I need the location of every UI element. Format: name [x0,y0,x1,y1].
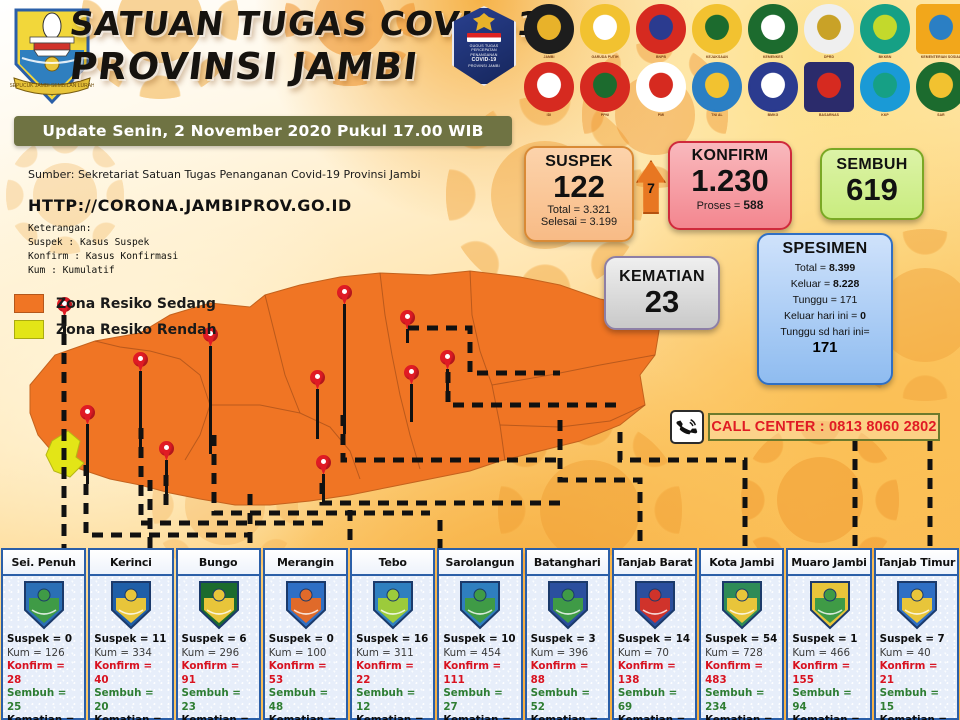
ppni-logo: PPNI [580,62,630,112]
satgas-line3: PENANGANAN [470,53,497,57]
logo-label: KEJAKSAAN [694,55,740,59]
logo-label: BKKBN [862,55,908,59]
logo-label: SAR [918,113,960,117]
keterangan-title: Keterangan: [28,222,178,236]
district-suspek: Suspek = 16 [356,633,430,647]
logo-core [762,76,784,98]
bkkbn-logo: BKKBN [860,4,910,54]
logo-label: BNPB [638,55,684,59]
district-kematian: Kematian = 0 [443,714,517,720]
logo-label: TNI AL [694,113,740,117]
spesimen-value: 8.399 [829,262,855,274]
district-stats: Suspek = 16Kum = 311Konfirm = 22Sembuh =… [356,633,430,720]
stat-card-sembuh: SEMBUH 619 [820,148,924,220]
konfirm-proses-label: Proses = [697,200,744,212]
legend-label-rendah: Zona Resiko Rendah [56,322,217,338]
logo-core [874,18,896,40]
logo-core [538,18,560,40]
district-crest-icon [284,580,328,630]
logo-label: DPRD [806,55,852,59]
district-konfirm: Konfirm = 88 [531,660,605,687]
satgas-line1: GUGUS TUGAS [470,44,499,48]
district-card-body: Suspek = 16Kum = 311Konfirm = 22Sembuh =… [350,574,435,720]
district-card[interactable]: Sei. PenuhSuspek = 0Kum = 126Konfirm = 2… [0,548,87,720]
district-sembuh: Sembuh = 25 [7,687,81,714]
district-card-body: Suspek = 7Kum = 40Konfirm = 21Sembuh = 1… [874,574,959,720]
district-card-body: Suspek = 10Kum = 454Konfirm = 111Sembuh … [437,574,522,720]
district-kum: Kum = 311 [356,647,430,661]
sar-logo: SAR [916,62,960,112]
district-stats: Suspek = 10Kum = 454Konfirm = 111Sembuh … [443,633,517,720]
district-crest-icon [197,580,241,630]
district-card-body: Suspek = 0Kum = 100Konfirm = 53Sembuh = … [263,574,348,720]
logo-label: GARUDA PUTIH [582,55,628,59]
logo-core [818,76,840,98]
legend-swatch-rendah [14,320,44,339]
district-crest-icon [458,580,502,630]
logo-core [762,18,784,40]
logo-core [706,18,728,40]
district-konfirm: Konfirm = 53 [269,660,343,687]
district-kematian: Kematian = 3 [94,714,168,720]
dprd-jambi-logo: DPRD [804,4,854,54]
district-kematian: Kematian = 0 [7,714,81,720]
district-crest-icon [633,580,677,630]
district-kum: Kum = 396 [531,647,605,661]
konfirm-value: 1.230 [670,165,790,198]
district-konfirm: Konfirm = 138 [618,660,692,687]
logo-core [594,18,616,40]
konfirm-proses-value: 588 [743,198,763,212]
district-crest-icon [371,580,415,630]
district-stats: Suspek = 3Kum = 396Konfirm = 88Sembuh = … [531,633,605,720]
keterangan-line: Konfirm : Kasus Konfirmasi [28,250,178,264]
district-konfirm: Konfirm = 21 [880,660,954,687]
district-sembuh: Sembuh = 94 [792,687,866,714]
legend-swatch-sedang [14,294,44,313]
suspek-value: 122 [526,171,632,204]
district-suspek: Suspek = 0 [7,633,81,647]
district-kum: Kum = 454 [443,647,517,661]
spesimen-label: Total = [795,262,829,274]
update-banner-text: Update Senin, 2 November 2020 Pukul 17.0… [42,122,483,140]
district-stats: Suspek = 11Kum = 334Konfirm = 40Sembuh =… [94,633,168,720]
district-card-body: Suspek = 11Kum = 334Konfirm = 40Sembuh =… [88,574,173,720]
bmkg-logo: BMKG [748,62,798,112]
district-suspek: Suspek = 54 [705,633,779,647]
update-banner: Update Senin, 2 November 2020 Pukul 17.0… [14,116,512,146]
kemenkes-logo: KEMENKES [748,4,798,54]
district-kum: Kum = 100 [269,647,343,661]
logo-core [650,18,672,40]
spesimen-row-keluar-hari-ini: Keluar hari ini = 0 [759,310,891,322]
spesimen-title: SPESIMEN [759,240,891,258]
district-stats: Suspek = 7Kum = 40Konfirm = 21Sembuh = 1… [880,633,954,720]
district-card[interactable]: Tanjab BaratSuspek = 14Kum = 70Konfirm =… [611,548,698,720]
district-name: Tanjab Timur [877,556,955,569]
logo-label: KKP [862,113,908,117]
district-card-header: Merangin [263,548,348,574]
kematian-value: 23 [606,286,718,319]
spesimen-label: Keluar = [791,278,833,290]
district-card-body: Suspek = 0Kum = 126Konfirm = 28Sembuh = … [1,574,86,720]
lantamal-tni-al-logo: TNI AL [692,62,742,112]
district-sembuh: Sembuh = 52 [531,687,605,714]
district-name: Tanjab Barat [617,556,693,569]
konfirm-proses: Proses = 588 [670,198,790,212]
logo-label: IDI [526,113,572,117]
logo-row-top: JAMBIGARUDA PUTIHBNPBKEJAKSAANKEMENKESDP… [524,2,958,56]
logo-core [930,76,952,98]
logo-core [874,76,896,98]
district-konfirm: Konfirm = 155 [792,660,866,687]
infographic-root: SEPUCUK JAMBI SEMBILAN LURAH SATUAN TUGA… [0,0,960,720]
logo-label: BMKG [750,113,796,117]
polda-jambi-logo: JAMBI [524,4,574,54]
garuda-putih-kodam-logo: GARUDA PUTIH [580,4,630,54]
district-stats: Suspek = 0Kum = 100Konfirm = 53Sembuh = … [269,633,343,720]
palang-merah-indonesia-logo: PMI [636,62,686,112]
district-kum: Kum = 728 [705,647,779,661]
district-card[interactable]: Tanjab TimurSuspek = 7Kum = 40Konfirm = … [873,548,960,720]
district-stats: Suspek = 6Kum = 296Konfirm = 91Sembuh = … [182,633,256,720]
district-card-body: Suspek = 14Kum = 70Konfirm = 138Sembuh =… [612,574,697,720]
keterangan-line: Kum : Kumulatif [28,264,178,278]
district-konfirm: Konfirm = 22 [356,660,430,687]
district-konfirm: Konfirm = 91 [182,660,256,687]
spesimen-row-keluar: Keluar = 8.228 [759,278,891,290]
district-name: Tebo [379,556,407,569]
source-text: Sumber: Sekretariat Satuan Tugas Penanga… [28,168,421,181]
page-title-line1: SATUAN TUGAS COVID-19 [68,4,513,43]
call-center-box[interactable]: CALL CENTER : 0813 8060 2802 [708,413,940,441]
district-card[interactable]: KerinciSuspek = 11Kum = 334Konfirm = 40S… [87,548,174,720]
district-name: Sei. Penuh [12,556,76,569]
logo-core [538,76,560,98]
district-kematian: Kematian = 3 [618,714,692,720]
kementerian-sosial-logo: KEMENTERIAN SOSIAL [916,4,960,54]
district-kematian: Kematian = 3 [182,714,256,720]
district-sembuh: Sembuh = 15 [880,687,954,714]
district-suspek: Suspek = 1 [792,633,866,647]
district-suspek: Suspek = 7 [880,633,954,647]
stat-card-kematian: KEMATIAN 23 [604,256,720,330]
district-kematian: Kematian = 1 [269,714,343,720]
district-crest-icon [720,580,764,630]
district-card-header: Tanjab Timur [874,548,959,574]
district-crest-icon [109,580,153,630]
district-crest-icon [22,580,66,630]
kementerian-kelautan-perikanan-logo: KKP [860,62,910,112]
logo-core [930,18,952,40]
district-cards: Sei. PenuhSuspek = 0Kum = 126Konfirm = 2… [0,548,960,720]
spesimen-label: Tunggu = [793,294,840,306]
district-suspek: Suspek = 14 [618,633,692,647]
phone-icon [670,410,704,444]
district-card[interactable]: BatanghariSuspek = 3Kum = 396Konfirm = 8… [524,548,611,720]
district-name: Muaro Jambi [791,556,866,569]
district-kum: Kum = 466 [792,647,866,661]
header: SEPUCUK JAMBI SEMBILAN LURAH SATUAN TUGA… [0,0,960,118]
district-sembuh: Sembuh = 69 [618,687,692,714]
spesimen-value: 171 [840,294,858,306]
keterangan-line: Suspek : Kasus Suspek [28,236,178,250]
spesimen-value: 0 [860,310,866,322]
district-stats: Suspek = 14Kum = 70Konfirm = 138Sembuh =… [618,633,692,720]
district-kum: Kum = 334 [94,647,168,661]
district-card[interactable]: Kota JambiSuspek = 54Kum = 728Konfirm = … [698,548,785,720]
suspek-selesai: Selesai = 3.199 [526,216,632,228]
district-suspek: Suspek = 11 [94,633,168,647]
district-konfirm: Konfirm = 483 [705,660,779,687]
arrow-up-icon: 7 [636,160,666,214]
district-card-body: Suspek = 1Kum = 466Konfirm = 155Sembuh =… [786,574,871,720]
bnpb-logo: BNPB [636,4,686,54]
logo-core [706,76,728,98]
suspek-increase-value: 7 [636,180,666,196]
logo-core [594,76,616,98]
spesimen-row-total: Total = 8.399 [759,262,891,274]
stat-card-spesimen: SPESIMEN Total = 8.399 Keluar = 8.228 Tu… [757,233,893,385]
district-sembuh: Sembuh = 23 [182,687,256,714]
keterangan-block: Keterangan: Suspek : Kasus Suspek Konfir… [28,222,178,278]
district-card-header: Sei. Penuh [1,548,86,574]
district-card[interactable]: Muaro JambiSuspek = 1Kum = 466Konfirm = … [785,548,872,720]
logo-label: KEMENTERIAN SOSIAL [918,55,960,59]
spesimen-row-tunggu-sd-hari-ini: Tunggu sd hari ini= [759,326,891,338]
logo-label: PPNI [582,113,628,117]
basarnas-daerah-logo: BASARNAS [804,62,854,112]
legend-item-sedang: Zona Resiko Sedang [14,294,217,313]
logo-core [818,18,840,40]
district-stats: Suspek = 1Kum = 466Konfirm = 155Sembuh =… [792,633,866,720]
district-card[interactable]: BungoSuspek = 6Kum = 296Konfirm = 91Semb… [175,548,262,720]
district-name: Bungo [199,556,237,569]
district-card-header: Tebo [350,548,435,574]
satgas-line2: PERCEPATAN [471,48,497,52]
call-center-text: CALL CENTER : 0813 8060 2802 [711,419,936,435]
district-name: Kerinci [110,556,152,569]
district-card[interactable]: MeranginSuspek = 0Kum = 100Konfirm = 53S… [262,548,349,720]
district-konfirm: Konfirm = 111 [443,660,517,687]
district-kematian: Kematian = 6 [705,714,779,720]
logo-core [650,76,672,98]
district-kematian: Kematian = 4 [356,714,430,720]
stat-card-suspek: SUSPEK 122 Total = 3.321 Selesai = 3.199 [524,146,634,242]
district-stats: Suspek = 0Kum = 126Konfirm = 28Sembuh = … [7,633,81,720]
suspek-total: Total = 3.321 [526,204,632,216]
logo-label: PMI [638,113,684,117]
district-suspek: Suspek = 6 [182,633,256,647]
district-kum: Kum = 126 [7,647,81,661]
district-card[interactable]: TeboSuspek = 16Kum = 311Konfirm = 22Semb… [349,548,436,720]
title-block: SATUAN TUGAS COVID-19 PROVINSI JAMBI [70,4,510,88]
partner-logo-strip: JAMBIGARUDA PUTIHBNPBKEJAKSAANKEMENKESDP… [524,2,958,114]
stat-card-konfirm: KONFIRM 1.230 Proses = 588 [668,141,792,230]
district-card-header: Sarolangun [437,548,522,574]
page-title-line2: PROVINSI JAMBI [67,45,512,88]
district-stats: Suspek = 54Kum = 728Konfirm = 483Sembuh … [705,633,779,720]
call-center[interactable]: CALL CENTER : 0813 8060 2802 [670,410,940,446]
logo-label: KEMENKES [750,55,796,59]
district-suspek: Suspek = 3 [531,633,605,647]
district-card-header: Tanjab Barat [612,548,697,574]
spesimen-last-value: 171 [759,339,891,356]
district-sembuh: Sembuh = 12 [356,687,430,714]
district-crest-icon [808,580,852,630]
spesimen-label: Keluar hari ini = [784,310,860,322]
logo-label: BASARNAS [806,113,852,117]
district-card-header: Muaro Jambi [786,548,871,574]
district-sembuh: Sembuh = 27 [443,687,517,714]
district-kematian: Kematian = 1 [792,714,866,720]
district-name: Sarolangun [446,556,515,569]
district-suspek: Suspek = 10 [443,633,517,647]
district-sembuh: Sembuh = 234 [705,687,779,714]
district-card-header: Bungo [176,548,261,574]
logo-row-bottom: IDIPPNIPMITNI ALBMKGBASARNASKKPSAR [524,60,958,114]
district-kum: Kum = 296 [182,647,256,661]
satgas-line5: PROVINSI JAMBI [468,64,500,68]
district-card[interactable]: SarolangunSuspek = 10Kum = 454Konfirm = … [436,548,523,720]
kejaksaan-logo: KEJAKSAAN [692,4,742,54]
logo-label: JAMBI [526,55,572,59]
district-konfirm: Konfirm = 28 [7,660,81,687]
district-kum: Kum = 40 [880,647,954,661]
district-kematian: Kematian = 2 [531,714,605,720]
district-card-header: Kerinci [88,548,173,574]
district-card-header: Batanghari [525,548,610,574]
spesimen-value: 8.228 [833,278,859,290]
map-legend: Zona Resiko Sedang Zona Resiko Rendah [14,294,217,346]
district-kematian: Kematian = 0 [880,714,954,720]
district-card-body: Suspek = 3Kum = 396Konfirm = 88Sembuh = … [525,574,610,720]
district-card-body: Suspek = 54Kum = 728Konfirm = 483Sembuh … [699,574,784,720]
spesimen-row-tunggu: Tunggu = 171 [759,294,891,306]
district-sembuh: Sembuh = 20 [94,687,168,714]
district-name: Merangin [277,556,334,569]
district-sembuh: Sembuh = 48 [269,687,343,714]
spesimen-label: Tunggu sd hari ini= [780,326,869,338]
district-kum: Kum = 70 [618,647,692,661]
district-name: Batanghari [534,556,601,569]
district-suspek: Suspek = 0 [269,633,343,647]
district-name: Kota Jambi [709,556,774,569]
legend-item-rendah: Zona Resiko Rendah [14,320,217,339]
district-konfirm: Konfirm = 40 [94,660,168,687]
district-card-body: Suspek = 6Kum = 296Konfirm = 91Sembuh = … [176,574,261,720]
website-url[interactable]: HTTP://CORONA.JAMBIPROV.GO.ID [28,196,352,215]
district-card-header: Kota Jambi [699,548,784,574]
district-crest-icon [546,580,590,630]
district-crest-icon [895,580,939,630]
legend-label-sedang: Zona Resiko Sedang [56,296,216,312]
idi-logo: IDI [524,62,574,112]
sembuh-value: 619 [822,174,922,207]
